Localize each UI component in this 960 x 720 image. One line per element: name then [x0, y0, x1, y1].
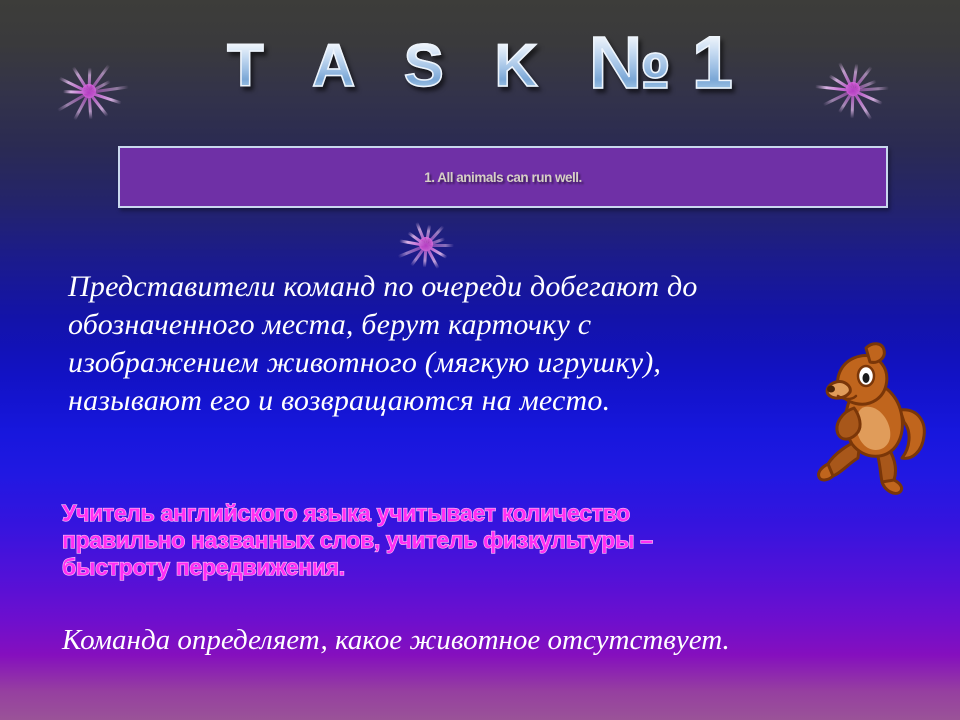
statement-box: 1. All animals can run well. [118, 146, 888, 208]
slide-canvas: T A S K№ 1 1. All animals can run well. … [0, 0, 960, 720]
instructions-line: называют его и возвращаются на место. [68, 382, 898, 420]
sparkle-ray [425, 244, 447, 259]
scoring-note-line: быстроту передвижения. [62, 554, 912, 581]
instructions-paragraph: Представители команд по очереди добегают… [68, 268, 898, 420]
title-task-word: T A S K [227, 36, 555, 96]
sparkle-center-icon [425, 243, 426, 244]
sparkle-ray [424, 224, 431, 245]
sparkle-ray [424, 244, 439, 268]
sparkle-core [419, 237, 433, 251]
running-bear-icon [814, 336, 942, 500]
title-number-label: № 1 [589, 26, 733, 100]
sparkle-ray [399, 239, 426, 247]
sparkle-ray [415, 221, 427, 245]
scoring-note-line: Учитель английского языка учитывает коли… [62, 500, 912, 527]
statement-text: 1. All animals can run well. [134, 169, 872, 185]
scoring-note: Учитель английского языка учитывает коли… [62, 500, 912, 581]
instructions-line: обозначенного места, берут карточку с [68, 306, 898, 344]
page-title: T A S K№ 1 [0, 36, 960, 110]
instructions-line: Представители команд по очереди добегают… [68, 268, 898, 306]
sparkle-ray [410, 244, 427, 266]
sparkle-ray [424, 225, 444, 246]
sparkle-ray [426, 244, 454, 247]
instructions-line: изображением животного (мягкую игрушку), [68, 344, 898, 382]
sparkle-ray [422, 245, 427, 267]
sparkle-ray [425, 237, 445, 247]
sparkle-ray [407, 231, 427, 246]
closing-line: Команда определяет, какое животное отсут… [62, 623, 922, 657]
sparkle-ray [397, 244, 426, 258]
scoring-note-line: правильно названных слов, учитель физкул… [62, 527, 912, 554]
